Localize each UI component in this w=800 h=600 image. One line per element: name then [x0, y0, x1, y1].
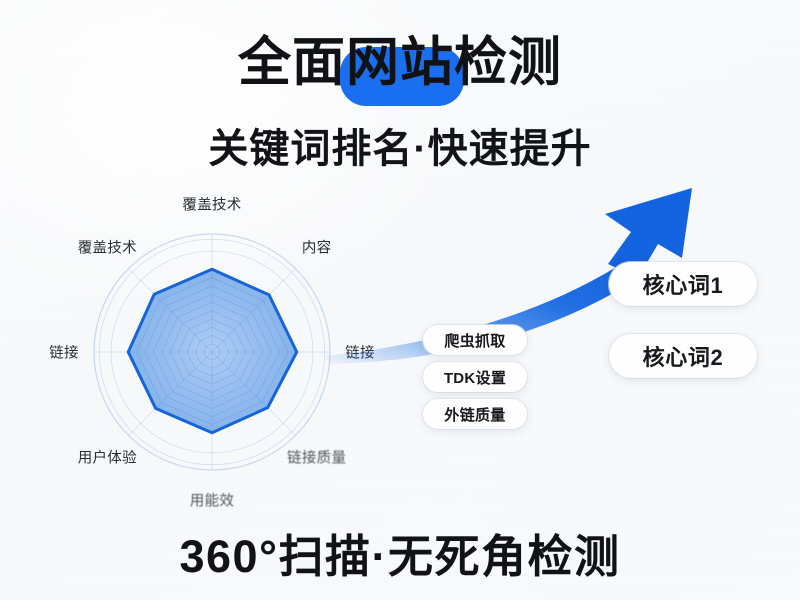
radar-axis-label-3: 链接质量	[287, 446, 346, 467]
title-highlight: 网站	[346, 33, 454, 92]
page-subtitle: 关键词排名·快速提升	[0, 116, 800, 174]
keyword-pill-1[interactable]: 核心词1	[609, 262, 757, 306]
feature-pill-1[interactable]: 爬虫抓取	[423, 325, 527, 355]
page-tagline: 360°扫描·无死角检测	[0, 520, 800, 585]
radar-axis-label-0: 覆盖技术	[182, 194, 241, 215]
radar-axis-label-7: 覆盖技术	[78, 237, 137, 258]
keyword-pill-2[interactable]: 核心词2	[609, 334, 757, 378]
poster-canvas: 全面网站检测 关键词排名·快速提升 覆盖技术内容链接链接质量用能效用户体验链接覆…	[0, 0, 800, 600]
radar-axis-label-4: 用能效	[190, 490, 234, 511]
radar-axis-label-6: 链接	[49, 342, 79, 363]
page-title: 全面网站检测	[0, 34, 800, 91]
radar-axis-label-2: 链接	[345, 342, 375, 363]
feature-pill-3[interactable]: 外链质量	[423, 399, 527, 429]
title-row: 全面网站检测	[238, 34, 562, 91]
radar-axis-label-5: 用户体验	[78, 446, 137, 467]
title-segment-1: 全面	[238, 33, 346, 92]
title-segment-2: 检测	[454, 33, 562, 92]
radar-chart: 覆盖技术内容链接链接质量用能效用户体验链接覆盖技术	[22, 192, 422, 512]
radar-axis-label-1: 内容	[302, 237, 332, 258]
feature-pill-2[interactable]: TDK设置	[423, 362, 527, 392]
